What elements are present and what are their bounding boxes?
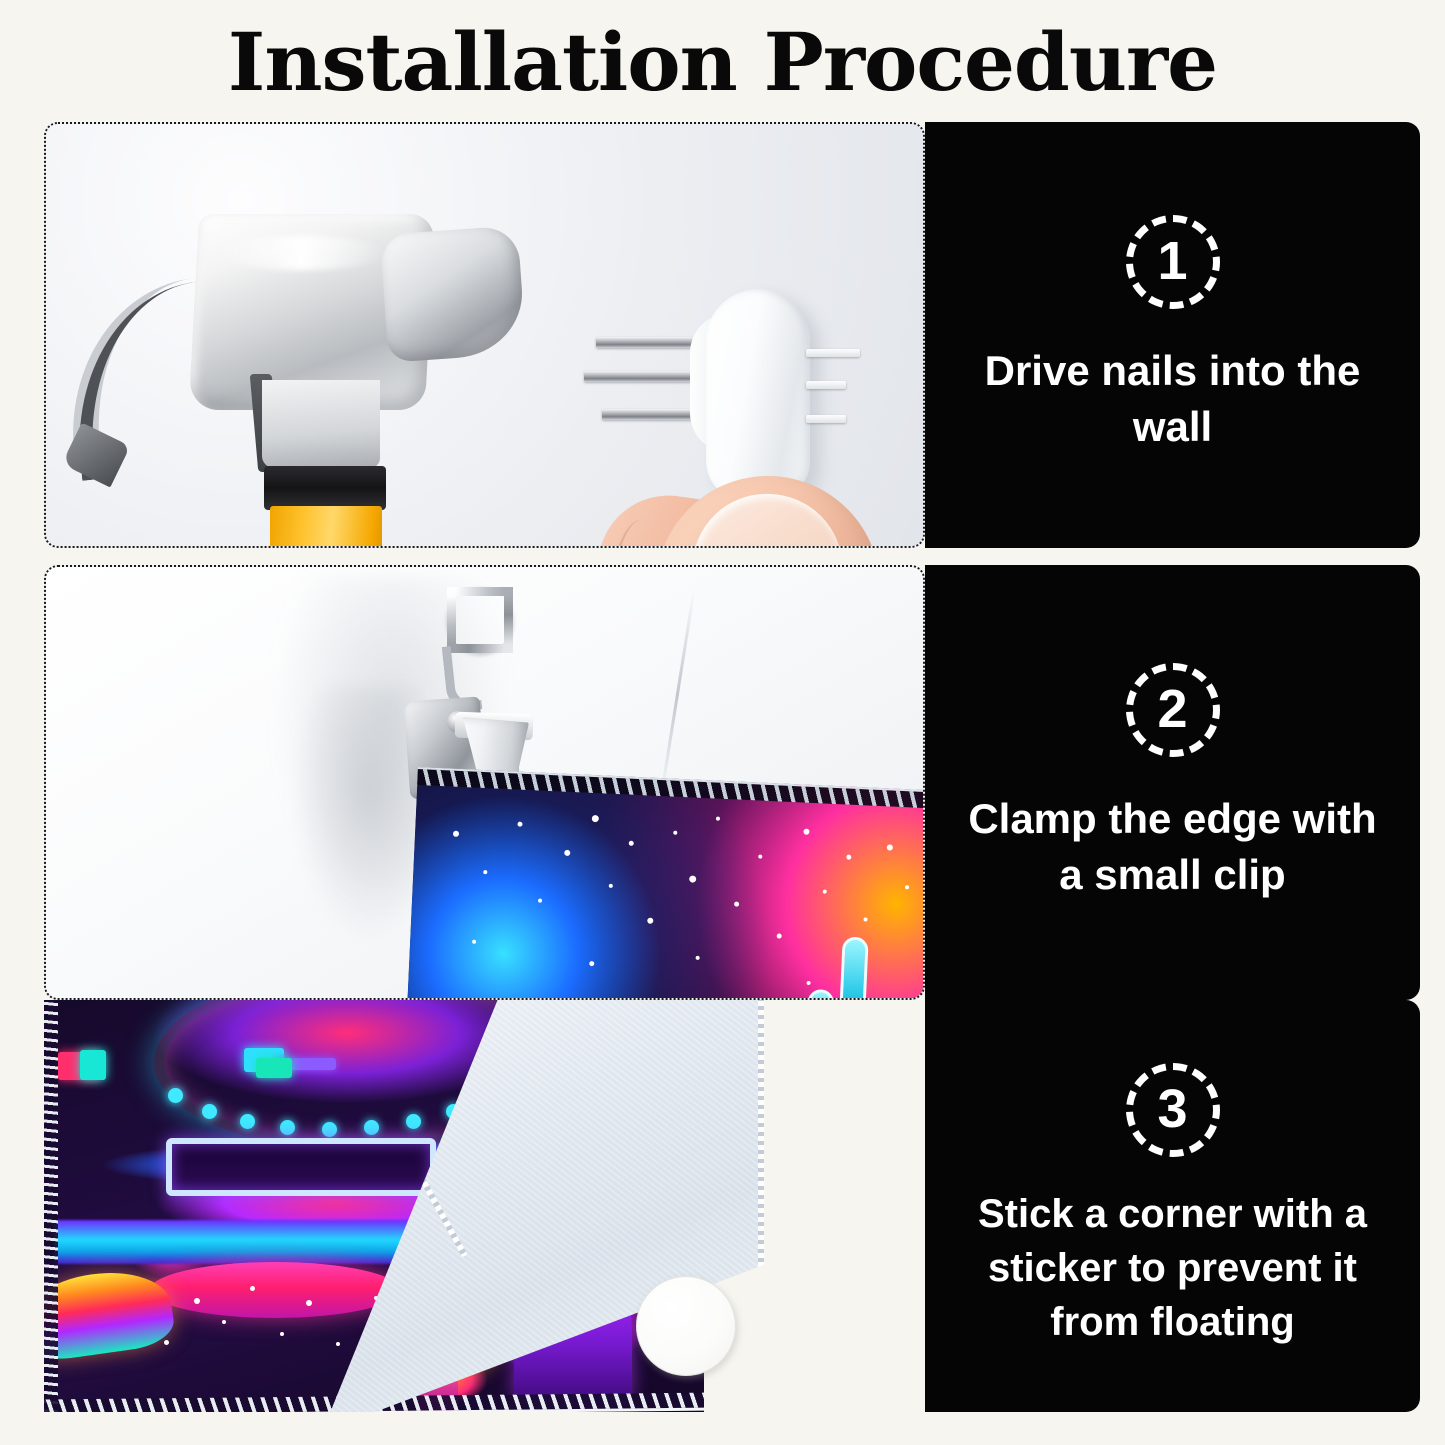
step-1-label: Drive nails into the wall [938,343,1408,455]
hammer-illustration [66,184,526,548]
step-row-2: 2 Clamp the edge with a small clip [44,565,1420,1000]
step-1-text-panel: 1 Drive nails into the wall [925,122,1420,548]
hook-pin-right-1 [806,349,860,357]
round-sticker [636,1276,736,1376]
step-2-label: Clamp the edge with a small clip [938,791,1408,903]
hammer-ferrule [264,466,386,510]
step-1-badge: 1 [1126,215,1220,309]
clip-ring [447,587,513,653]
hook-pin-right-2 [806,381,846,389]
hook-pin-right-3 [806,415,846,423]
hammer-head-highlight [216,236,386,270]
tapestry-edge [407,767,925,1000]
step-3-number: 3 [1157,1082,1187,1136]
step-2-number: 2 [1157,682,1187,736]
step-3-photo [44,1000,925,1412]
hammer-handle [270,506,382,548]
step-2-badge: 2 [1126,663,1220,757]
step-1-photo [44,122,925,548]
hand-finger-index [838,936,869,1000]
page-title: Installation Procedure [0,18,1445,106]
installation-procedure-page: Installation Procedure [0,0,1445,1445]
step-3-label: Stick a corner with a sticker to prevent… [938,1187,1408,1349]
step-2-text-panel: 2 Clamp the edge with a small clip [925,565,1420,1000]
hand-finger-middle [806,989,834,1000]
step-row-1: 1 Drive nails into the wall [44,122,1420,548]
hammer-neck [380,225,527,362]
hammer-cheek [262,380,380,468]
step-1-number: 1 [1157,234,1187,288]
thumb-illustration [594,460,924,548]
step-3-text-panel: 3 Stick a corner with a sticker to preve… [925,1000,1420,1412]
tapestry-hand-motif [784,928,885,1000]
step-3-badge: 3 [1126,1063,1220,1157]
step-2-photo [44,565,925,1000]
step-row-3: 3 Stick a corner with a sticker to preve… [44,1000,1420,1412]
tapestry-left-hem [44,1000,58,1412]
